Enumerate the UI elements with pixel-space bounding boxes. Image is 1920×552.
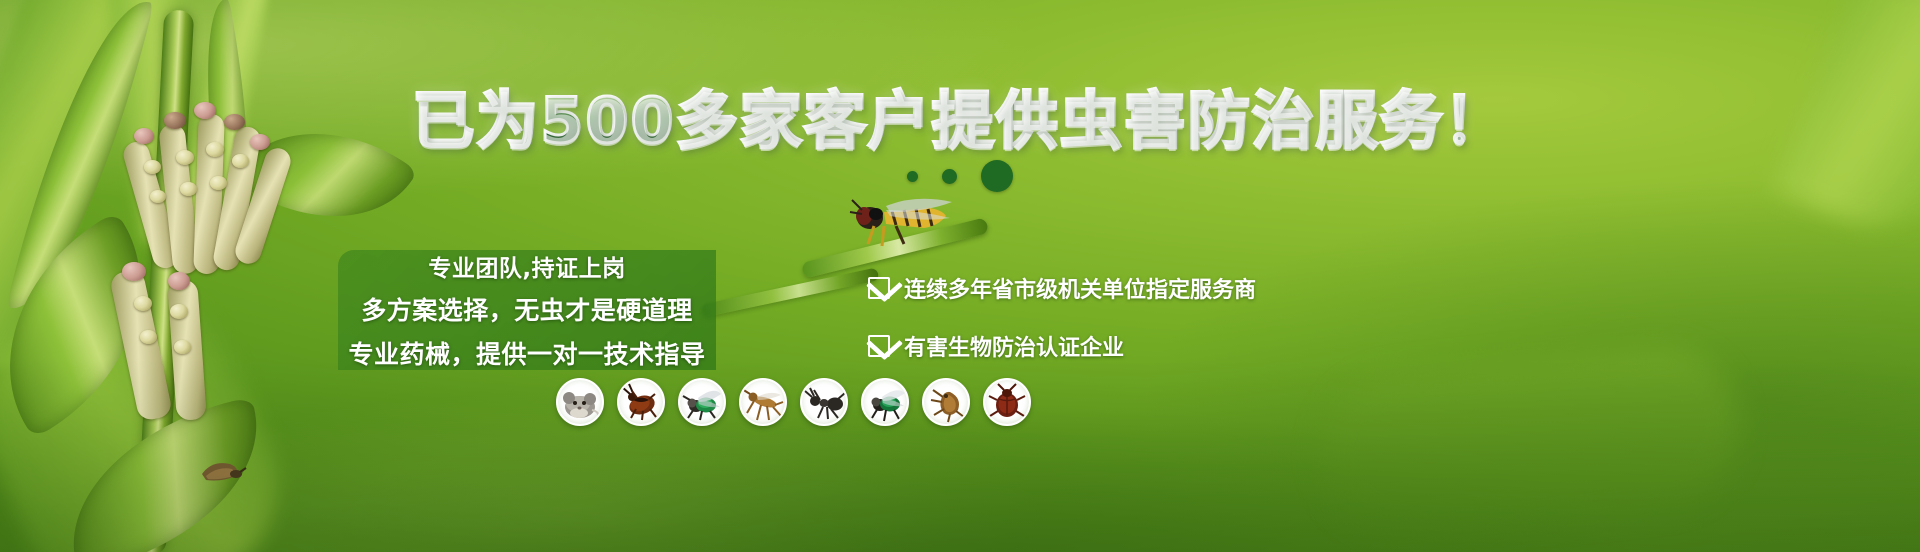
pest-icon-strip <box>556 378 1031 426</box>
page-title: 已为500多家客户提供虫害防治服务！ <box>0 70 1920 160</box>
list-item: 有害生物防治认证企业 <box>868 330 1288 362</box>
decorative-dots <box>0 160 1920 192</box>
decorative-dot-large <box>981 160 1013 192</box>
hoverfly-icon <box>846 196 966 258</box>
credential-checklist: 连续多年省市级机关单位指定服务商 有害生物防治认证企业 <box>868 272 1288 362</box>
greenfly-icon[interactable] <box>678 378 726 426</box>
mouse-icon[interactable] <box>556 378 604 426</box>
ant-icon[interactable] <box>800 378 848 426</box>
decorative-dot-medium <box>942 169 957 184</box>
feature-panel <box>338 250 716 370</box>
decorative-dot-small <box>907 171 918 182</box>
housefly-icon[interactable] <box>861 378 909 426</box>
moth-icon <box>196 456 248 486</box>
flea-icon[interactable] <box>922 378 970 426</box>
credential-label: 连续多年省市级机关单位指定服务商 <box>904 272 1256 304</box>
checkbox-checked-icon <box>868 335 890 357</box>
page-title-text: 已为500多家客户提供虫害防治服务！ <box>412 84 1507 157</box>
bedbug-icon[interactable] <box>983 378 1031 426</box>
credential-label: 有害生物防治认证企业 <box>904 330 1124 362</box>
list-item: 连续多年省市级机关单位指定服务商 <box>868 272 1288 304</box>
mosquito-icon[interactable] <box>739 378 787 426</box>
checkbox-checked-icon <box>868 277 890 299</box>
cockroach-icon[interactable] <box>617 378 665 426</box>
promo-banner: 已为500多家客户提供虫害防治服务！ 专业团队,持证上岗 多方案选择，无虫才是硬… <box>0 0 1920 552</box>
